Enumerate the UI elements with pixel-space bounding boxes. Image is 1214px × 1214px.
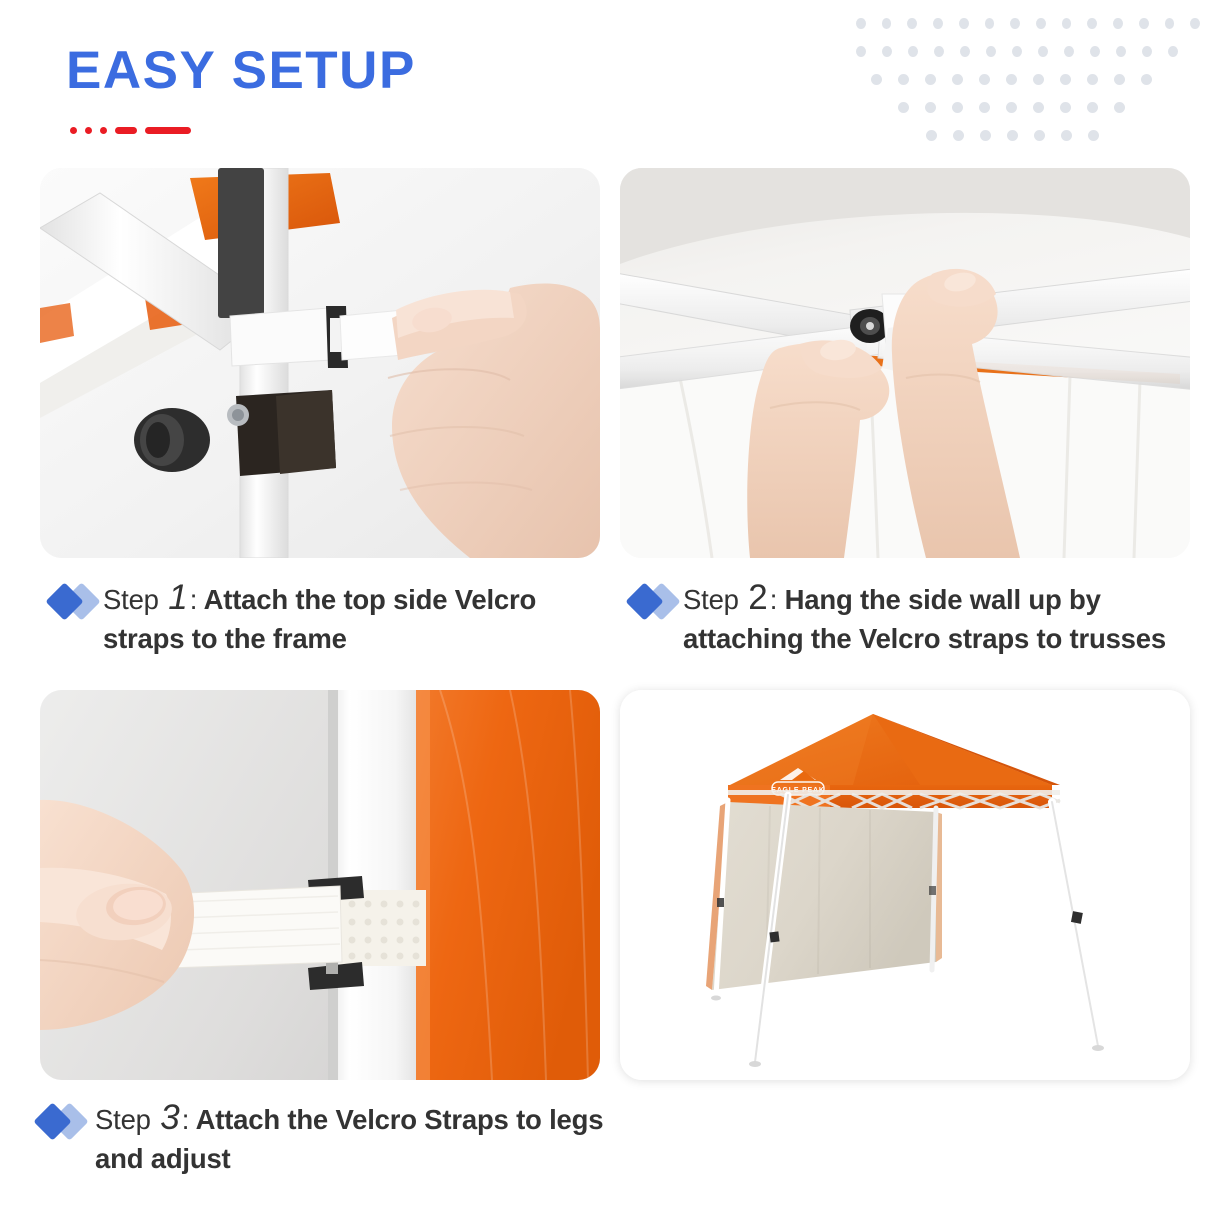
grid-dot [1142,46,1152,57]
step-2-label: Step [683,584,739,615]
grid-dot [1033,102,1044,113]
grid-dot [1139,18,1149,29]
grid-dot [907,18,917,29]
grid-dot [1114,102,1125,113]
grid-dot [979,74,990,85]
step-2-caption-text: Step 2: Hang the side wall up by attachi… [683,575,1202,657]
step-bullet-icon [35,1101,91,1143]
dot-grid-decoration [840,18,1200,178]
step-2-caption: Step 2: Hang the side wall up by attachi… [627,575,1202,657]
grid-dot [1165,18,1175,29]
step-1-colon: : [190,584,197,615]
grid-dot [898,102,909,113]
grid-dot [979,102,990,113]
dot-grid-row [840,102,1125,113]
grid-dot [1033,74,1044,85]
grid-dot [1090,46,1100,57]
step-1-photo [40,168,600,558]
grid-dot [1006,102,1017,113]
canopy-illustration: EAGLE PEAK [620,690,1190,1080]
grid-dot [1064,46,1074,57]
step-3-number: 3 [158,1098,181,1137]
step-3-colon: : [182,1104,189,1135]
step-1-label: Step [103,584,159,615]
title-underline [70,127,416,134]
grid-dot [1190,18,1200,29]
grid-dot [898,74,909,85]
grid-dot [1087,18,1097,29]
grid-dot [1034,130,1045,141]
underline-dash-2 [85,127,92,134]
grid-dot [1113,18,1123,29]
page-title: EASY SETUP [66,44,416,97]
grid-dot [985,18,995,29]
grid-dot [1060,102,1071,113]
step-1-number: 1 [166,578,189,617]
grid-dot [1007,130,1018,141]
underline-dash-1 [70,127,77,134]
grid-dot [1038,46,1048,57]
grid-dot [1141,74,1152,85]
step-bullet-icon [627,581,683,623]
grid-dot [925,74,936,85]
grid-dot [882,46,892,57]
step-3-photo [40,690,600,1080]
grid-dot [1114,74,1125,85]
grid-dot [856,46,866,57]
step-bullet-icon [47,581,103,623]
grid-dot [1010,18,1020,29]
grid-dot [934,46,944,57]
grid-dot [1012,46,1022,57]
dot-grid-row [840,46,1178,57]
step-2-number: 2 [746,578,769,617]
dot-grid-row [840,18,1200,29]
product-photo-card: EAGLE PEAK [620,690,1190,1080]
dot-grid-row [840,130,1099,141]
grid-dot [1088,130,1099,141]
grid-dot [882,18,892,29]
step-3-caption: Step 3: Attach the Velcro Straps to legs… [35,1095,615,1177]
step-2-colon: : [770,584,777,615]
grid-dot [908,46,918,57]
step-3-caption-text: Step 3: Attach the Velcro Straps to legs… [91,1095,615,1177]
grid-dot [925,102,936,113]
underline-dash-4 [115,127,137,134]
underline-dash-5 [145,127,191,134]
step-3-label: Step [95,1104,151,1135]
grid-dot [952,102,963,113]
dot-grid-row [840,74,1152,85]
grid-dot [1062,18,1072,29]
grid-dot [1168,46,1178,57]
grid-dot [1087,102,1098,113]
grid-dot [1060,74,1071,85]
grid-dot [933,18,943,29]
grid-dot [926,130,937,141]
step-2-photo [620,168,1190,558]
step-3-illustration [40,690,600,1080]
grid-dot [952,74,963,85]
grid-dot [871,74,882,85]
grid-dot [1061,130,1072,141]
grid-dot [1087,74,1098,85]
grid-dot [986,46,996,57]
underline-dash-3 [100,127,107,134]
step-1-caption-text: Step 1: Attach the top side Velcro strap… [103,575,607,657]
step-1-caption: Step 1: Attach the top side Velcro strap… [47,575,607,657]
step-2-illustration [620,168,1190,558]
grid-dot [1036,18,1046,29]
grid-dot [980,130,991,141]
grid-dot [953,130,964,141]
grid-dot [959,18,969,29]
step-1-illustration [40,168,600,558]
grid-dot [960,46,970,57]
grid-dot [1006,74,1017,85]
title-block: EASY SETUP [66,44,416,134]
grid-dot [856,18,866,29]
grid-dot [1116,46,1126,57]
